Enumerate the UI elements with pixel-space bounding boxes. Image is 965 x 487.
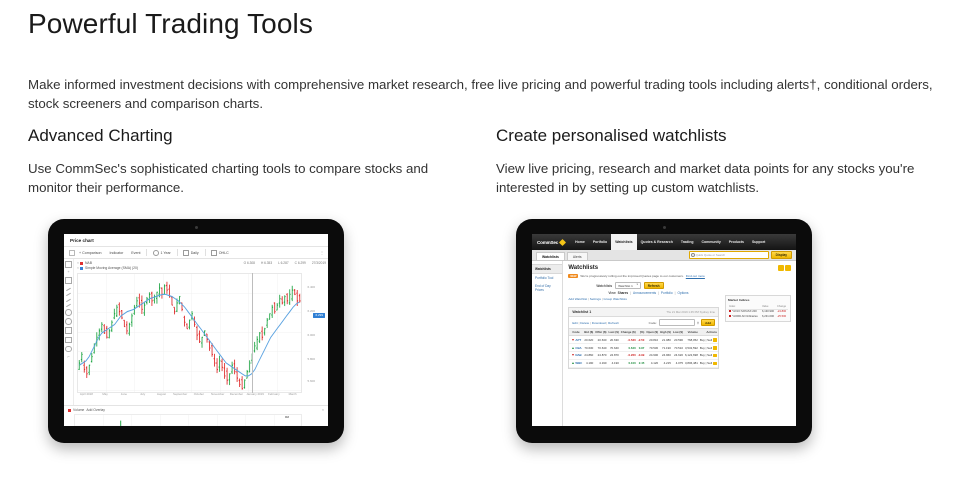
down-arrow-icon — [729, 315, 731, 317]
buy-sell-links[interactable]: Buy | Sell — [700, 346, 712, 350]
lock-icon[interactable]: ⌐ — [66, 355, 71, 360]
cell-offer: 4.190 — [594, 359, 607, 367]
calendar-icon — [183, 250, 189, 256]
watchlist-panel-header: Watchlist 1 Thu 21 Mar 2019 1:45 PM Sydn… — [569, 308, 718, 317]
mi-index-label-1: ^AORD All Ordinaries — [732, 315, 758, 318]
cell-actions[interactable]: Buy | Sell — [699, 352, 718, 360]
cell-code[interactable]: APT — [569, 336, 583, 344]
nav-item-support[interactable]: Support — [748, 240, 769, 244]
toolbar-divider-2 — [177, 249, 178, 256]
y-tick-2: 6.000 — [307, 333, 315, 337]
cell-pct: 2.45 — [637, 359, 646, 367]
down-arrow-icon — [729, 310, 731, 312]
add-watchlist-link[interactable]: Add Watchlist — [568, 297, 587, 301]
col-offer[interactable]: Offer ($) — [594, 329, 607, 336]
cell-code-label: NAB — [575, 353, 581, 357]
banner-text: We're progressively rolling out the impr… — [580, 274, 683, 278]
sidebar: Watchlists Portfolio Tool End of Day Pri… — [532, 261, 563, 426]
flag-icon[interactable] — [65, 346, 72, 353]
cell-open: 24.900 — [645, 352, 659, 360]
interval-label: Daily — [191, 251, 199, 255]
column-title-charting: Advanced Charting — [28, 126, 478, 146]
cell-last: 24.870 — [608, 352, 620, 360]
search-input[interactable]: Quick Quote or Search — [689, 251, 769, 259]
comparison-label: Comparison — [82, 251, 101, 255]
price-plot[interactable] — [77, 273, 302, 393]
nav-item-community[interactable]: Community — [698, 240, 725, 244]
volume-swatch — [68, 409, 71, 412]
candles-icon — [211, 250, 217, 256]
diamond-icon — [559, 238, 566, 245]
volume-series-svg — [75, 415, 301, 427]
view-option-shares[interactable]: Shares — [618, 291, 629, 295]
fib-icon[interactable] — [66, 304, 70, 307]
market-indices-panel: Market Indices Index Value Change ^AXJO … — [725, 295, 791, 322]
nav-item-trading[interactable]: Trading — [677, 240, 698, 244]
x-tick-0: April 2018 — [77, 393, 96, 405]
group-watchlists-link[interactable]: Group Watchlists — [603, 297, 626, 301]
table-row[interactable]: NAB24.86024.87024.870-0.260-0.9924.90024… — [569, 352, 718, 360]
cell-low: 4.075 — [672, 359, 684, 367]
close-icon[interactable]: × — [322, 408, 324, 412]
commsec-logo[interactable]: CommSec — [537, 240, 565, 245]
volume-panel-header: Volume Add Overlay × — [64, 405, 328, 414]
cell-high: 71.190 — [659, 344, 672, 352]
ohlc-close: C 6.299 — [295, 261, 306, 265]
brand-name: CommSec — [537, 240, 558, 245]
code-input[interactable] — [659, 319, 695, 326]
search-icon[interactable]: ⚲ — [697, 321, 699, 325]
cell-high: 21.080 — [659, 336, 672, 344]
more-actions-icon[interactable] — [713, 338, 717, 342]
price-series-svg — [78, 274, 301, 392]
volume-label: Volume — [73, 408, 84, 412]
y-tick-0: 6.400 — [307, 285, 315, 289]
clock-icon — [153, 250, 159, 256]
print-icon[interactable] — [778, 265, 784, 271]
y-tick-3: 5.800 — [307, 357, 315, 361]
x-tick-3: July — [133, 393, 152, 405]
panel-action-links: Edit | Delete | Download | Refresh — [572, 321, 619, 325]
measure-icon[interactable] — [65, 277, 72, 284]
overflow-menu-icon[interactable]: ⋮ — [320, 251, 324, 254]
page-title: Powerful Trading Tools — [28, 8, 313, 40]
legend-swatch-sma — [80, 267, 83, 270]
chart-app-title: Price chart — [64, 234, 328, 247]
column-watchlists: Create personalised watchlists View live… — [496, 126, 946, 211]
cell-actions[interactable]: Buy | Sell — [699, 359, 718, 367]
cell-last: 20.630 — [608, 336, 620, 344]
cell-open: 20.810 — [645, 336, 659, 344]
arrow-icon[interactable] — [66, 299, 70, 302]
watchlists-page-title: Watchlists — [568, 265, 791, 271]
crosshair-line — [252, 273, 253, 393]
intro-paragraph: Make informed investment decisions with … — [28, 75, 940, 113]
cell-high: 24.960 — [659, 352, 672, 360]
cell-open: 70.530 — [645, 344, 659, 352]
tab-alerts[interactable]: Alerts — [567, 252, 588, 260]
legend-item-sma[interactable]: × Simple Moving Average (SMA) (20) — [77, 266, 328, 271]
tablet-chart: Price chart + Comparison Indicator Event… — [48, 219, 344, 443]
market-indices-table: Index Value Change ^AXJO S/P/ASX 200 6,1… — [728, 304, 788, 320]
settings-link[interactable]: Settings — [590, 297, 601, 301]
cell-actions[interactable]: Buy | Sell — [699, 336, 718, 344]
mi-index-label-0: ^AXJO S/P/ASX 200 — [732, 310, 757, 313]
legend-label-sma: Simple Moving Average (SMA) (20) — [85, 266, 138, 271]
chart-app-screen: Price chart + Comparison Indicator Event… — [64, 234, 328, 426]
buy-sell-links[interactable]: Buy | Sell — [700, 361, 712, 365]
col-last[interactable]: Last ($) — [608, 329, 620, 336]
ray-icon[interactable] — [66, 293, 70, 296]
col-actions: Actions — [699, 329, 718, 336]
ohlc-open: O 6.308 — [244, 261, 255, 265]
x-tick-11: March — [283, 393, 302, 405]
col-high[interactable]: High ($) — [659, 329, 672, 336]
interval-selector[interactable]: Daily — [179, 250, 203, 256]
legend-toggle-icon-sma[interactable]: × — [77, 266, 79, 271]
quotes-table: Code Bid ($) Offer ($) Last ($) Change (… — [569, 328, 718, 368]
x-tick-9: January 2019 — [246, 393, 265, 405]
toolbar-divider-3 — [205, 249, 206, 256]
buy-sell-links[interactable]: Buy | Sell — [700, 338, 712, 342]
x-tick-2: June — [115, 393, 134, 405]
tab-watchlists[interactable]: Watchlists — [536, 252, 565, 260]
sidebar-item-watchlists[interactable]: Watchlists — [532, 264, 562, 274]
cursor-icon[interactable] — [65, 261, 72, 268]
cell-offer: 20.630 — [594, 336, 607, 344]
section-tabs: Watchlists Alerts Quick Quote or Search … — [532, 250, 796, 261]
ohlc-readout: O 6.308 H 6.353 L 6.287 C 6.299 27/3/201… — [244, 261, 326, 265]
camera-icon — [195, 226, 198, 229]
x-tick-6: October — [190, 393, 209, 405]
nav-item-home[interactable]: Home — [571, 240, 589, 244]
delete-link[interactable]: Delete — [580, 321, 589, 325]
crosshair-icon[interactable]: + — [66, 270, 71, 275]
view-option-options[interactable]: Options — [677, 291, 688, 295]
cell-change: -0.530 — [620, 336, 637, 344]
x-tick-7: November — [208, 393, 227, 405]
add-comparison-button[interactable]: + Comparison — [75, 251, 105, 255]
camera-icon-right — [663, 226, 666, 229]
mi-name-1: ^AORD All Ordinaries — [728, 314, 761, 319]
cell-code[interactable]: WBC — [569, 359, 583, 367]
col-code[interactable]: Code — [569, 329, 583, 336]
cell-actions[interactable]: Buy | Sell — [699, 344, 718, 352]
quotes-table-body: APT20.62020.63020.630-0.530-2.5020.81021… — [569, 336, 718, 367]
watchlist-app-screen: CommSec Home Portfolio Watchlists Quotes… — [532, 234, 796, 426]
indicator-button[interactable]: Indicator — [105, 251, 127, 255]
watchlist-dropdown[interactable]: Watchlist 1 — [615, 282, 641, 289]
cell-change: -0.260 — [620, 352, 637, 360]
cell-pct: -2.50 — [637, 336, 646, 344]
chart-body: + ⌐ × — [64, 259, 328, 405]
buy-sell-links[interactable]: Buy | Sell — [700, 353, 712, 357]
y-tick-4: 5.600 — [307, 379, 315, 383]
nav-item-portfolio[interactable]: Portfolio — [589, 240, 611, 244]
toolbar-divider-1 — [146, 249, 147, 256]
table-row[interactable]: CBA70.63070.64070.6400.6400.9770.53071.1… — [569, 344, 718, 352]
market-index-row: ^AORD All Ordinaries 6,231.000 -25.500 — [728, 314, 788, 319]
ohlc-high: H 6.353 — [261, 261, 272, 265]
cell-last: 70.640 — [608, 344, 620, 352]
cell-change: 0.100 — [620, 359, 637, 367]
tablet-watchlists: CommSec Home Portfolio Watchlists Quotes… — [516, 219, 812, 443]
cell-offer: 70.640 — [594, 344, 607, 352]
cell-low: 20.590 — [672, 336, 684, 344]
find-out-more-link[interactable]: Find out more — [686, 274, 705, 278]
trendline-icon[interactable] — [66, 287, 70, 290]
table-row[interactable]: APT20.62020.63020.630-0.530-2.5020.81021… — [569, 336, 718, 344]
drawing-tools-palette: + ⌐ — [64, 259, 74, 405]
edit-link[interactable]: Edit — [572, 321, 577, 325]
x-tick-5: September — [171, 393, 190, 405]
x-tick-10: February — [265, 393, 284, 405]
new-badge: NEW — [568, 274, 578, 278]
event-button[interactable]: Event — [127, 251, 144, 255]
quotes-header-row: Code Bid ($) Offer ($) Last ($) Change (… — [569, 329, 718, 336]
refresh-button[interactable]: Refresh — [644, 282, 664, 289]
watchlists-label: Watchlists — [596, 284, 612, 288]
cell-code-label: WBC — [575, 361, 582, 365]
more-actions-icon[interactable] — [713, 346, 717, 350]
range-label: 1 Year — [160, 251, 170, 255]
cell-volume: 3,532,592 — [684, 344, 699, 352]
code-label: Code: — [649, 321, 657, 325]
nav-items: Home Portfolio Watchlists Quotes & Resea… — [571, 234, 769, 250]
cell-pct: 0.97 — [637, 344, 646, 352]
market-indices-title: Market Indices — [728, 298, 788, 302]
cell-last: 4.190 — [608, 359, 620, 367]
chart-style-label: OHLC — [219, 251, 229, 255]
price-x-axis: April 2018 May June July August Septembe… — [77, 393, 302, 405]
cell-bid: 4.190 — [583, 359, 594, 367]
ohlc-date: 27/3/2019 — [312, 261, 326, 265]
watchlist-panel: Watchlist 1 Thu 21 Mar 2019 1:45 PM Sydn… — [568, 307, 719, 369]
cell-code-label: CBA — [575, 346, 581, 350]
more-actions-icon[interactable] — [713, 362, 717, 366]
add-code-group: Code: ⚲ Add — [649, 319, 715, 326]
trading-tools-page: Powerful Trading Tools Make informed inv… — [0, 0, 965, 487]
column-title-watchlists: Create personalised watchlists — [496, 126, 946, 146]
cell-code[interactable]: NAB — [569, 352, 583, 360]
price-y-axis: 6.400 6.200 6.000 5.800 5.600 6.299 — [303, 273, 327, 393]
col-open[interactable]: Open ($) — [645, 329, 659, 336]
watchlist-timestamp: Thu 21 Mar 2019 1:45 PM Sydney time — [666, 310, 715, 314]
mi-change-1: -25.500 — [776, 314, 788, 319]
table-row[interactable]: WBC4.1904.1904.1900.1002.454.1204.2154.0… — [569, 359, 718, 367]
ohlc-low: L 6.287 — [278, 261, 289, 265]
col-volume[interactable]: Volume — [684, 329, 699, 336]
view-option-portfolio[interactable]: Portfolio — [661, 291, 673, 295]
cell-code[interactable]: CBA — [569, 344, 583, 352]
sidebar-item-end-of-day-prices[interactable]: End of Day Prices — [532, 282, 562, 294]
view-label: View — [608, 291, 615, 295]
watchlist-selector-row: Watchlists Watchlist 1 Refresh — [568, 282, 791, 289]
cell-pct: -0.99 — [637, 352, 646, 360]
column-advanced-charting: Advanced Charting Use CommSec's sophisti… — [28, 126, 478, 211]
range-selector[interactable]: 1 Year — [149, 250, 175, 256]
more-actions-icon[interactable] — [713, 354, 717, 358]
current-price-tag: 6.299 — [313, 313, 325, 318]
cell-low: 70.510 — [672, 344, 684, 352]
nav-item-watchlists[interactable]: Watchlists — [611, 234, 636, 250]
col-change[interactable]: Change ($) — [620, 329, 637, 336]
ellipse-icon[interactable] — [65, 309, 72, 316]
cell-open: 4.120 — [645, 359, 659, 367]
chart-toolbar: + Comparison Indicator Event 1 Year Dail… — [64, 247, 328, 259]
x-tick-4: August — [152, 393, 171, 405]
mi-value-1: 6,231.000 — [761, 314, 776, 319]
announcement-banner: NEW We're progressively rolling out the … — [568, 274, 791, 278]
quotes-table-head: Code Bid ($) Offer ($) Last ($) Change (… — [569, 329, 718, 336]
cell-volume: 6,122,698 — [684, 352, 699, 360]
x-tick-8: December — [227, 393, 246, 405]
view-option-announcements[interactable]: Announcements — [633, 291, 656, 295]
rectangle-icon[interactable] — [65, 327, 72, 334]
cell-code-label: APT — [575, 338, 581, 342]
watchlist-content: Watchlists NEW We're progressively rolli… — [563, 261, 796, 426]
nav-item-quotes-research[interactable]: Quotes & Research — [637, 240, 677, 244]
legend-swatch-ticker — [80, 262, 83, 265]
plus-icon: + — [79, 251, 81, 255]
watchlist-panel-title: Watchlist 1 — [572, 310, 591, 314]
watchlist-panel-actions: Edit | Delete | Download | Refresh Code: — [569, 317, 718, 328]
cell-bid: 24.860 — [583, 352, 594, 360]
cell-bid: 20.620 — [583, 336, 594, 344]
cell-change: 0.640 — [620, 344, 637, 352]
cell-bid: 70.630 — [583, 344, 594, 352]
text-icon[interactable] — [65, 337, 72, 344]
cell-low: 24.620 — [672, 352, 684, 360]
cell-high: 4.215 — [659, 359, 672, 367]
help-icon[interactable] — [785, 265, 791, 271]
circle-icon[interactable] — [65, 318, 72, 325]
sidebar-item-portfolio-tool[interactable]: Portfolio Tool — [532, 274, 562, 282]
cell-offer: 24.870 — [594, 352, 607, 360]
col-bid[interactable]: Bid ($) — [583, 329, 594, 336]
volume-plot[interactable]: 5M 4M 3M 2M 1M — [74, 414, 302, 427]
chart-plot-area: × NAB × Simple Moving Average (SMA) (20)… — [74, 259, 328, 405]
cell-volume: 3,806,481 — [684, 359, 699, 367]
content-action-icons — [778, 265, 792, 271]
refresh-link[interactable]: Refresh — [608, 321, 619, 325]
cell-volume: 768,052 — [684, 336, 699, 344]
download-link[interactable]: Download — [592, 321, 606, 325]
main-navigation: CommSec Home Portfolio Watchlists Quotes… — [532, 234, 796, 250]
display-button[interactable]: Display — [771, 251, 792, 259]
col-pct[interactable]: (%) — [637, 329, 646, 336]
quick-search: Quick Quote or Search Display — [689, 251, 792, 259]
watchlist-main: Watchlists Portfolio Tool End of Day Pri… — [532, 261, 796, 426]
add-button[interactable]: Add — [701, 319, 715, 326]
column-text-watchlists: View live pricing, research and market d… — [496, 159, 932, 197]
vol-tick-4: 1M — [285, 415, 289, 419]
col-low[interactable]: Low ($) — [672, 329, 684, 336]
chart-style-selector[interactable]: OHLC — [207, 250, 233, 256]
add-overlay-button[interactable]: Add Overlay — [86, 408, 105, 412]
x-tick-1: May — [96, 393, 115, 405]
column-text-charting: Use CommSec's sophisticated charting too… — [28, 159, 464, 197]
nav-item-products[interactable]: Products — [725, 240, 748, 244]
